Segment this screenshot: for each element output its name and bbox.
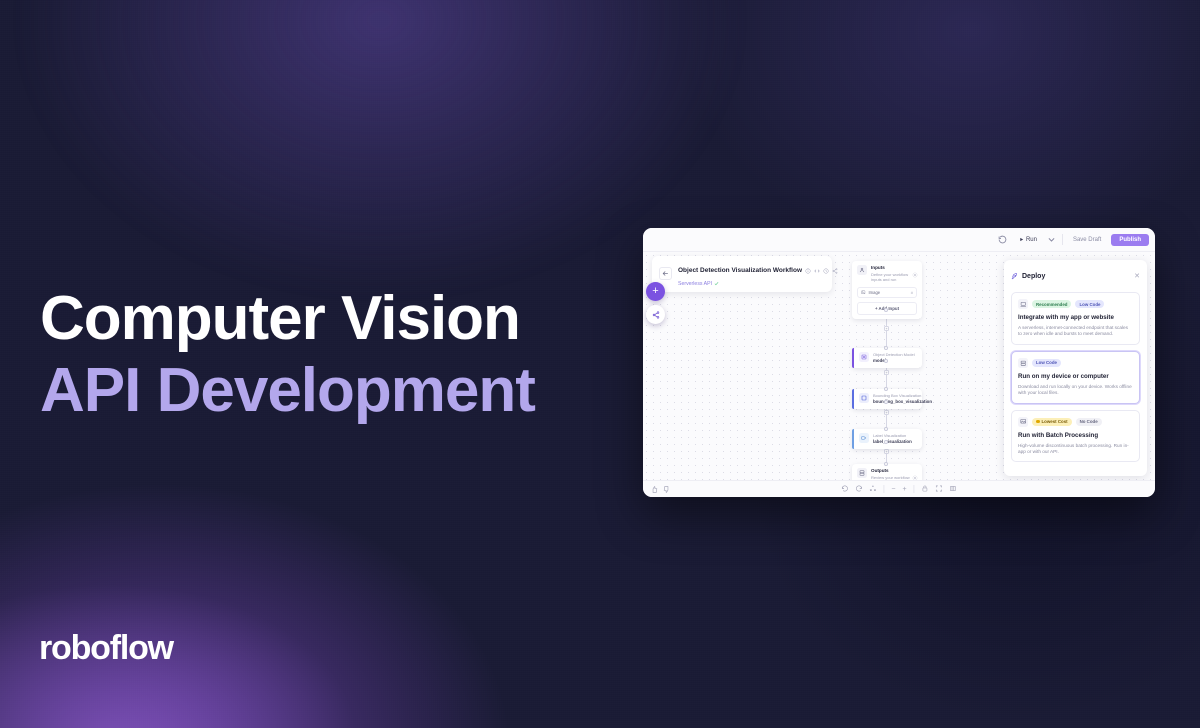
toolbar-divider (1062, 234, 1063, 245)
node-code: bounding_box_visualization (873, 399, 932, 405)
roboflow-logo: roboflow (39, 629, 173, 668)
thumbs-up-icon[interactable] (651, 480, 658, 497)
node-accent-bar (852, 389, 854, 409)
gear-icon[interactable] (912, 265, 918, 271)
node-subtitle: Label Visualization (873, 433, 912, 439)
workflow-canvas[interactable]: Object Detection Visualization Workflow … (643, 252, 1155, 480)
code-icon[interactable] (814, 261, 820, 279)
deploy-header: Deploy ✕ (1011, 267, 1140, 285)
node-code: model (873, 358, 915, 364)
app-toolbar: Run Save Draft Publish (643, 228, 1155, 252)
node-accent-bar (852, 348, 854, 368)
node-object-detection-model[interactable]: Object Detection Model model (852, 348, 922, 368)
badge-low-code: Low Code (1075, 300, 1104, 308)
node-port-in-outputs (884, 462, 888, 466)
add-block-button[interactable]: + (646, 282, 665, 301)
run-button[interactable]: Run (1015, 235, 1041, 245)
box-icon (859, 393, 869, 403)
label-icon (859, 433, 869, 443)
deploy-card-batch[interactable]: Lowest Cost No Code Run with Batch Proce… (1011, 410, 1140, 463)
play-icon (1019, 237, 1024, 242)
deploy-card-heading: Run with Batch Processing (1018, 432, 1133, 440)
node-label-visualization[interactable]: Label Visualization label_visualization (852, 429, 922, 449)
node-accent-bar (852, 429, 854, 449)
edge-add-button-1[interactable]: + (884, 326, 889, 331)
clock-icon[interactable] (823, 261, 829, 279)
badge-lowest-cost: Lowest Cost (1032, 418, 1072, 426)
workflow-app-window: Run Save Draft Publish Object Detection … (643, 228, 1155, 497)
lock-icon[interactable] (922, 485, 929, 494)
deploy-card-body: Download and run locally on your device.… (1018, 384, 1133, 397)
zoom-in-button[interactable]: + (903, 486, 907, 493)
thumbs-down-icon[interactable] (663, 480, 670, 497)
workflow-title: Object Detection Visualization Workflow (678, 267, 802, 274)
detect-icon (859, 352, 869, 362)
node-port-out-bbox (884, 400, 888, 404)
deploy-card-local[interactable]: Low Code Run on my device or computer Do… (1011, 351, 1140, 404)
close-icon[interactable]: ✕ (1134, 273, 1140, 280)
server-icon (1018, 358, 1028, 368)
badge-no-code: No Code (1076, 418, 1102, 426)
share-icon[interactable] (832, 261, 838, 279)
edge-add-button-4[interactable]: + (884, 449, 889, 454)
zoom-out-button[interactable]: − (891, 486, 895, 493)
redo-icon[interactable] (855, 485, 862, 494)
deploy-card-heading: Integrate with my app or website (1018, 314, 1133, 322)
node-subtitle: Object Detection Model (873, 352, 915, 358)
output-icon (857, 468, 867, 478)
headline-line-2: API Development (40, 355, 535, 427)
layout-icon[interactable] (869, 485, 876, 494)
node-code: label_visualization (873, 439, 912, 445)
node-title: Outputs (871, 468, 917, 474)
deploy-title: Deploy (1022, 273, 1045, 280)
app-bottom-bar: − + (643, 480, 1155, 497)
zoom-divider (883, 485, 884, 493)
node-port-in-bbox (884, 387, 888, 391)
deploy-card-heading: Run on my device or computer (1018, 373, 1133, 381)
feedback-controls (643, 480, 670, 497)
fit-screen-icon[interactable] (936, 485, 943, 494)
badge-low-code: Low Code (1032, 359, 1061, 367)
node-port-out-model (884, 359, 888, 363)
badge-lowest-cost-label: Lowest Cost (1042, 419, 1068, 424)
workflow-subtitle-row: Serverless API (678, 281, 838, 287)
rocket-icon (1011, 267, 1018, 285)
chevron-down-icon[interactable] (1047, 235, 1056, 244)
deploy-card-header: Lowest Cost No Code (1018, 417, 1133, 427)
workflow-subtitle: Serverless API (678, 281, 712, 287)
run-label: Run (1026, 237, 1037, 243)
user-icon (857, 265, 867, 275)
arrow-left-icon[interactable] (659, 267, 672, 280)
deploy-card-body: A serverless, internet-connected endpoin… (1018, 325, 1133, 338)
node-bounding-box-visualization[interactable]: Bounding Box Visualization bounding_box_… (852, 389, 922, 409)
save-draft-button[interactable]: Save Draft (1069, 237, 1105, 243)
node-subtitle: Define your workflow inputs and run (871, 272, 917, 283)
hero-headline: Computer Vision API Development (40, 283, 535, 427)
gear-icon[interactable] (912, 468, 918, 474)
laptop-icon (1018, 299, 1028, 309)
share-nodes-icon[interactable] (646, 305, 665, 324)
workflow-title-card: Object Detection Visualization Workflow … (652, 256, 832, 292)
batch-icon (1018, 417, 1028, 427)
deploy-card-body: High-volume discontinuous batch processi… (1018, 443, 1133, 456)
minimap-icon[interactable] (950, 485, 957, 494)
check-icon (714, 281, 719, 286)
headline-line-1: Computer Vision (40, 283, 535, 355)
node-port-out-label (884, 440, 888, 444)
node-title: Inputs (871, 265, 917, 271)
input-image-chip[interactable]: Image # (857, 287, 917, 298)
input-chip-label: Image (869, 290, 881, 295)
deploy-card-integrate[interactable]: Recommended Low Code Integrate with my a… (1011, 292, 1140, 345)
deploy-panel: Deploy ✕ Recommended Low Code Integrate … (1004, 260, 1147, 476)
info-icon[interactable] (805, 261, 811, 279)
zoom-divider-2 (914, 485, 915, 493)
edge-add-button-3[interactable]: + (884, 410, 889, 415)
edge-add-button-2[interactable]: + (884, 370, 889, 375)
badge-recommended: Recommended (1032, 300, 1071, 308)
publish-button[interactable]: Publish (1111, 234, 1149, 246)
undo-icon[interactable] (841, 485, 848, 494)
cost-dot-icon (1036, 420, 1040, 424)
canvas-zoom-controls: − + (841, 485, 956, 494)
deploy-card-header: Low Code (1018, 358, 1133, 368)
deploy-card-header: Recommended Low Code (1018, 299, 1133, 309)
history-icon[interactable] (997, 234, 1009, 246)
node-port-in-model (884, 346, 888, 350)
workflow-title-icons (805, 261, 838, 279)
input-chip-meta: # (911, 290, 913, 295)
node-port-in-label (884, 427, 888, 431)
node-port-out-inputs (884, 308, 888, 312)
